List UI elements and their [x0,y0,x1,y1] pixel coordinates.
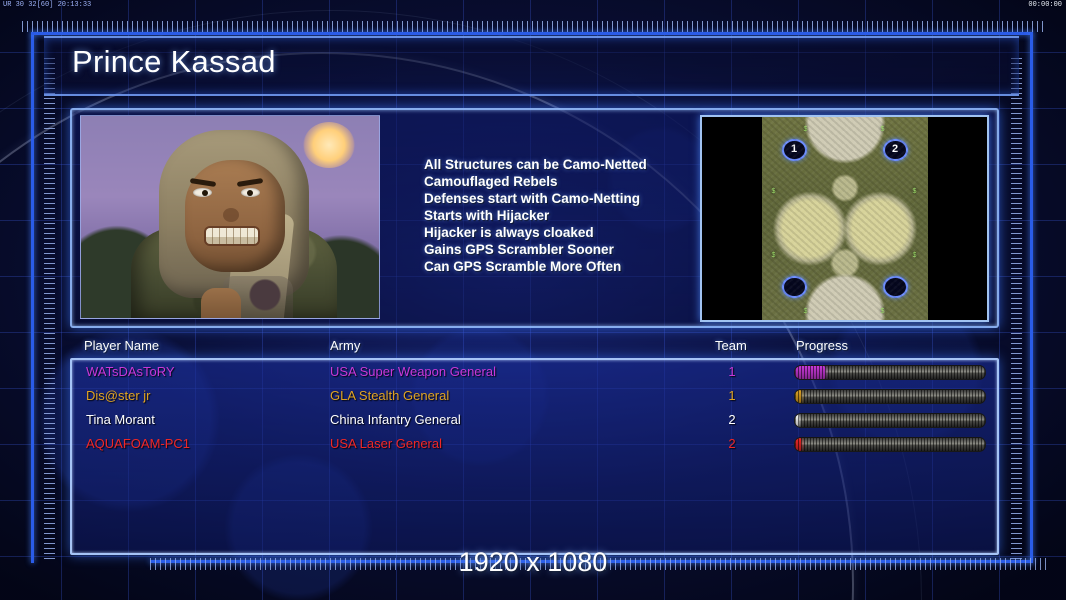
ruler-left [44,58,55,563]
portrait-nose [223,208,239,222]
supply-icon: $ [881,127,886,132]
map-start-position-1[interactable]: 1 [782,139,807,161]
column-header-progress: Progress [796,338,848,353]
map-terrain: 1 2 $ $ $ $ $ $ $ $ [762,117,928,320]
player-name: WATsDAsToRY [86,360,175,384]
player-list: WATsDAsToRYUSA Super Weapon General1Dis@… [70,358,999,555]
map-start-position-2[interactable]: 2 [883,139,908,161]
player-army: USA Super Weapon General [330,360,496,384]
general-info-panel: All Structures can be Camo-Netted Camouf… [70,108,999,328]
player-team: 2 [720,432,744,456]
supply-icon: $ [913,253,918,258]
player-team: 2 [720,408,744,432]
general-portrait [80,115,380,319]
column-header-army: Army [330,338,360,353]
game-screen: UR 30 32[60] 20:13:33 00:00:00 Prince Ka… [0,0,1066,600]
player-team: 1 [720,360,744,384]
portrait-hand [201,288,241,318]
player-name: Tina Morant [86,408,155,432]
sun-icon [303,122,355,168]
player-army: USA Laser General [330,432,442,456]
frame-border-right [1030,32,1033,563]
progress-bar-fill [795,414,799,427]
supply-icon: $ [772,189,777,194]
ruler-top [22,21,1044,32]
supply-icon: $ [804,127,809,132]
frame-border-left [31,32,34,563]
progress-bar-fill [795,438,801,451]
ruler-right [1011,58,1022,563]
supply-icon: $ [913,189,918,194]
player-rows: WATsDAsToRYUSA Super Weapon General1Dis@… [72,360,997,456]
table-row[interactable]: AQUAFOAM-PC1USA Laser General2 [72,432,997,456]
portrait-pupil-left [202,190,208,196]
progress-bar-fill [795,366,825,379]
progress-bar [794,389,986,404]
resolution-label: 1920 x 1080 [0,547,1066,578]
supply-icon: $ [881,309,886,314]
portrait-pupil-right [247,190,253,196]
table-row[interactable]: Tina MorantChina Infantry General2 [72,408,997,432]
table-row[interactable]: Dis@ster jrGLA Stealth General1 [72,384,997,408]
table-row[interactable]: WATsDAsToRYUSA Super Weapon General1 [72,360,997,384]
portrait-mouth [206,228,258,244]
map-start-position-3[interactable] [782,276,807,298]
page-title: Prince Kassad [72,44,276,80]
map-start-position-4[interactable] [883,276,908,298]
player-name: Dis@ster jr [86,384,150,408]
player-army: GLA Stealth General [330,384,449,408]
hud-stats: UR 30 32[60] 20:13:33 [3,1,91,9]
player-army: China Infantry General [330,408,461,432]
column-header-team: Team [715,338,747,353]
column-header-player-name: Player Name [84,338,159,353]
progress-bar [794,365,986,380]
map-preview[interactable]: 1 2 $ $ $ $ $ $ $ $ [700,115,989,322]
progress-bar [794,437,986,452]
hud-timer: 00:00:00 [1028,1,1062,9]
player-list-header: Player Name Army Team Progress [70,338,995,358]
progress-bar [794,413,986,428]
supply-icon: $ [804,309,809,314]
frame-border-top [31,32,1033,35]
supply-icon: $ [772,253,777,258]
player-team: 1 [720,384,744,408]
player-name: AQUAFOAM-PC1 [86,432,190,456]
progress-bar-fill [795,390,801,403]
